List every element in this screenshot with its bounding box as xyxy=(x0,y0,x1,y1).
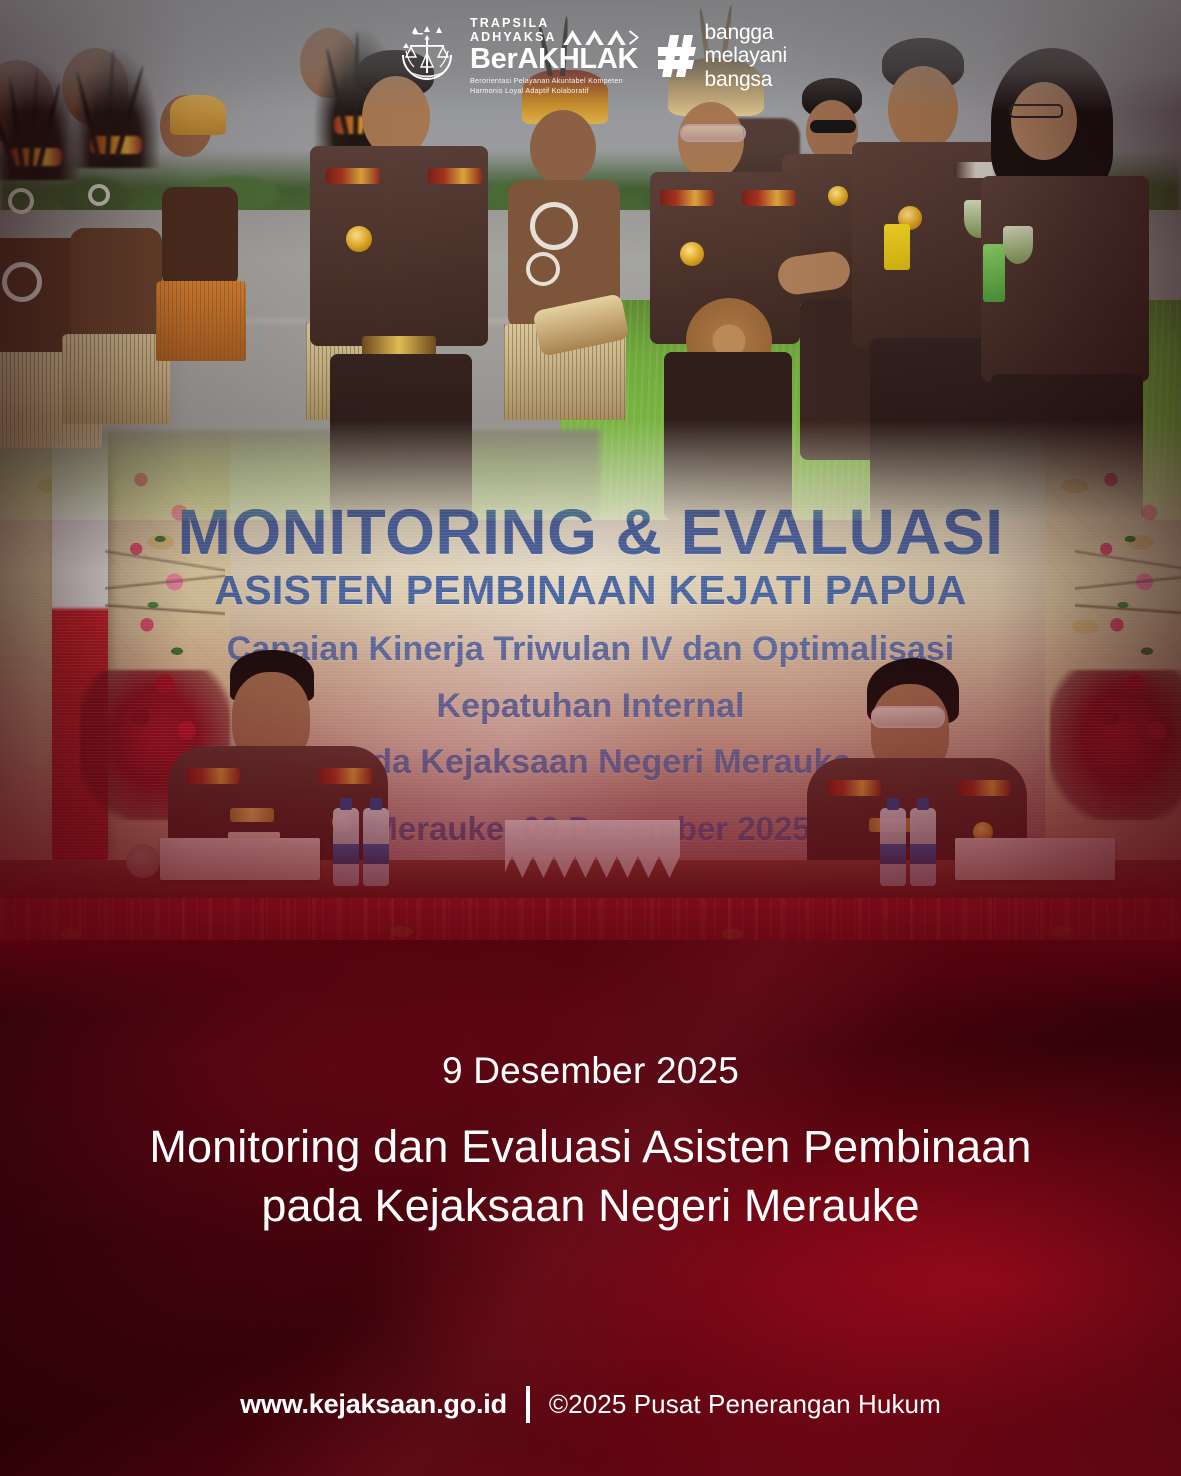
website-url[interactable]: www.kejaksaan.go.id xyxy=(240,1389,507,1420)
tagline-line-2: Harmonis Loyal Adaptif Kolaboratif xyxy=(470,86,640,96)
shoulder-patch xyxy=(1003,226,1033,264)
nameplate-left xyxy=(160,838,320,880)
hash-slanted-icon xyxy=(658,35,696,77)
microphone-base xyxy=(126,844,160,878)
water-bottle-1 xyxy=(333,808,359,886)
nameplate-right xyxy=(955,838,1115,880)
bangga-line-2: melayani xyxy=(705,44,787,68)
header-logo-bar: TRAPSILA ADHYAKSA BerAKHLAK Berorientasi… xyxy=(0,0,1181,112)
kejaksaan-scales-emblem-icon xyxy=(394,23,460,89)
floral-arrangement-left xyxy=(105,440,225,770)
trapsila-berakhlak-logo: TRAPSILA ADHYAKSA BerAKHLAK Berorientasi… xyxy=(394,16,640,97)
bangga-line-3: bangsa xyxy=(705,68,787,92)
event-title-line-1: Monitoring dan Evaluasi Asisten Pembinaa… xyxy=(0,1118,1181,1177)
photo-press-conference: MONITORING & EVALUASI ASISTEN PEMBINAAN … xyxy=(0,420,1181,1000)
trapsila-line-1: TRAPSILA xyxy=(470,16,557,30)
water-bottle-2 xyxy=(363,808,389,886)
footer-bar: www.kejaksaan.go.id ©2025 Pusat Penerang… xyxy=(0,1386,1181,1423)
floral-arrangement-right xyxy=(1075,440,1181,770)
event-title-line-2: pada Kejaksaan Negeri Merauke xyxy=(0,1177,1181,1236)
tagline-line-1: Berorientasi Pelayanan Akuntabel Kompete… xyxy=(470,76,640,86)
trapsila-text-block: TRAPSILA ADHYAKSA BerAKHLAK Berorientasi… xyxy=(470,16,640,97)
bangga-text-block: bangga melayani bangsa xyxy=(705,21,787,92)
bangga-line-1: bangga xyxy=(705,21,787,45)
trapsila-line-2: ADHYAKSA xyxy=(470,30,557,44)
water-bottle-4 xyxy=(910,808,936,886)
poster-canvas: MONITORING & EVALUASI ASISTEN PEMBINAAN … xyxy=(0,0,1181,1476)
copyright-text: ©2025 Pusat Penerangan Hukum xyxy=(549,1389,941,1420)
photo-collage: MONITORING & EVALUASI ASISTEN PEMBINAAN … xyxy=(0,0,1181,1000)
id-lanyard-green xyxy=(983,244,1005,302)
floral-stems xyxy=(1075,440,1181,770)
event-date-block: 9 Desember 2025 xyxy=(0,1050,1181,1092)
berakhlak-wordmark: BerAKHLAK xyxy=(470,45,640,74)
berakhlak-tagline: Berorientasi Pelayanan Akuntabel Kompete… xyxy=(470,76,640,97)
bangga-melayani-bangsa-logo: bangga melayani bangsa xyxy=(658,21,787,92)
event-title-block: Monitoring dan Evaluasi Asisten Pembinaa… xyxy=(0,1118,1181,1235)
event-date: 9 Desember 2025 xyxy=(0,1050,1181,1092)
footer-separator xyxy=(526,1386,530,1423)
water-bottle-3 xyxy=(880,808,906,886)
floral-stems xyxy=(105,440,225,770)
id-lanyard-yellow xyxy=(884,224,910,270)
